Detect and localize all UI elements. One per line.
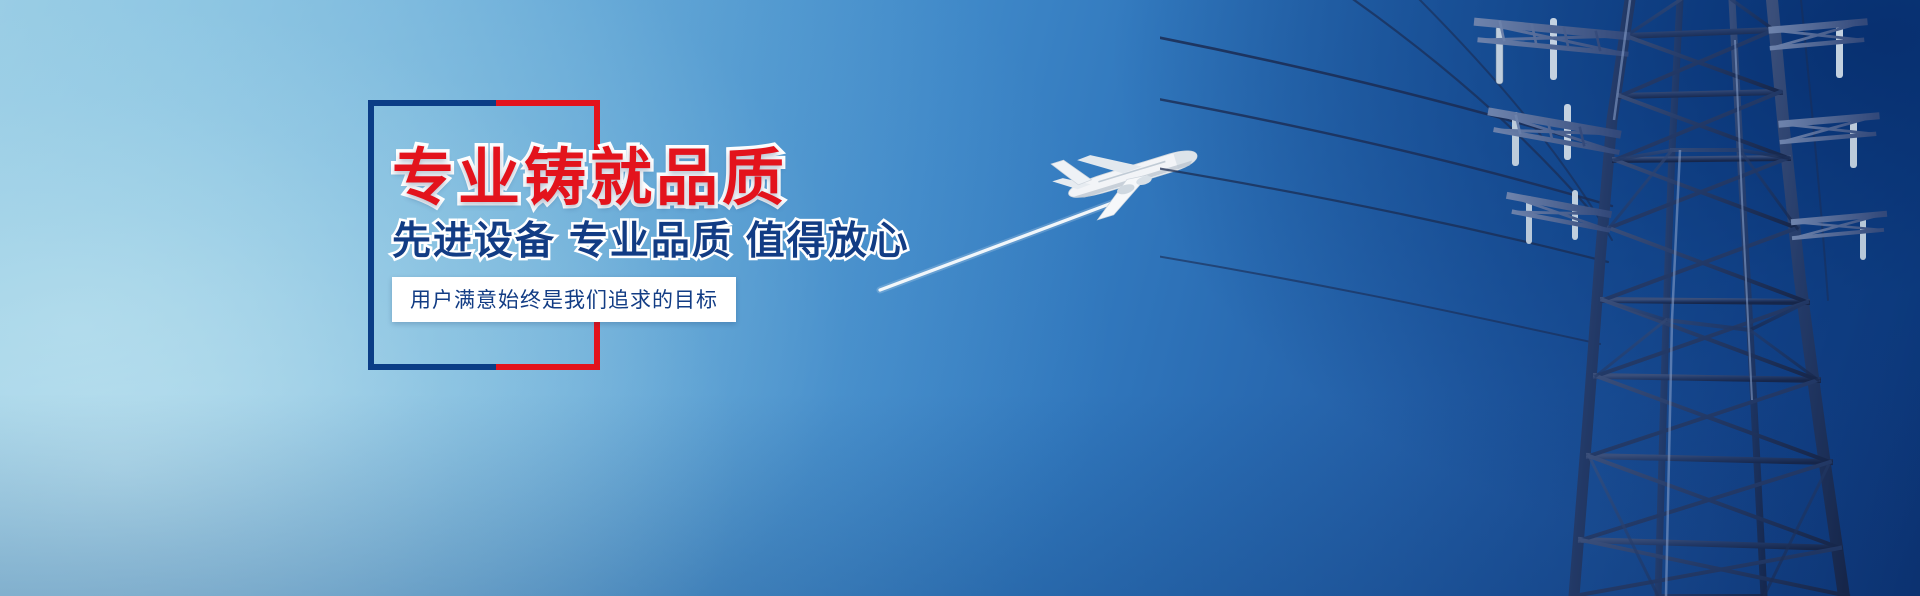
banner-copy: 专业铸就品质 先进设备 专业品质 值得放心 用户满意始终是我们追求的目标 bbox=[392, 148, 1112, 322]
banner-subline: 先进设备 专业品质 值得放心 bbox=[392, 222, 1112, 261]
banner-headline: 专业铸就品质 bbox=[392, 148, 1112, 210]
banner-tagline-box: 用户满意始终是我们追求的目标 bbox=[392, 277, 736, 322]
hero-banner: 专业铸就品质 先进设备 专业品质 值得放心 用户满意始终是我们追求的目标 bbox=[0, 0, 1920, 596]
